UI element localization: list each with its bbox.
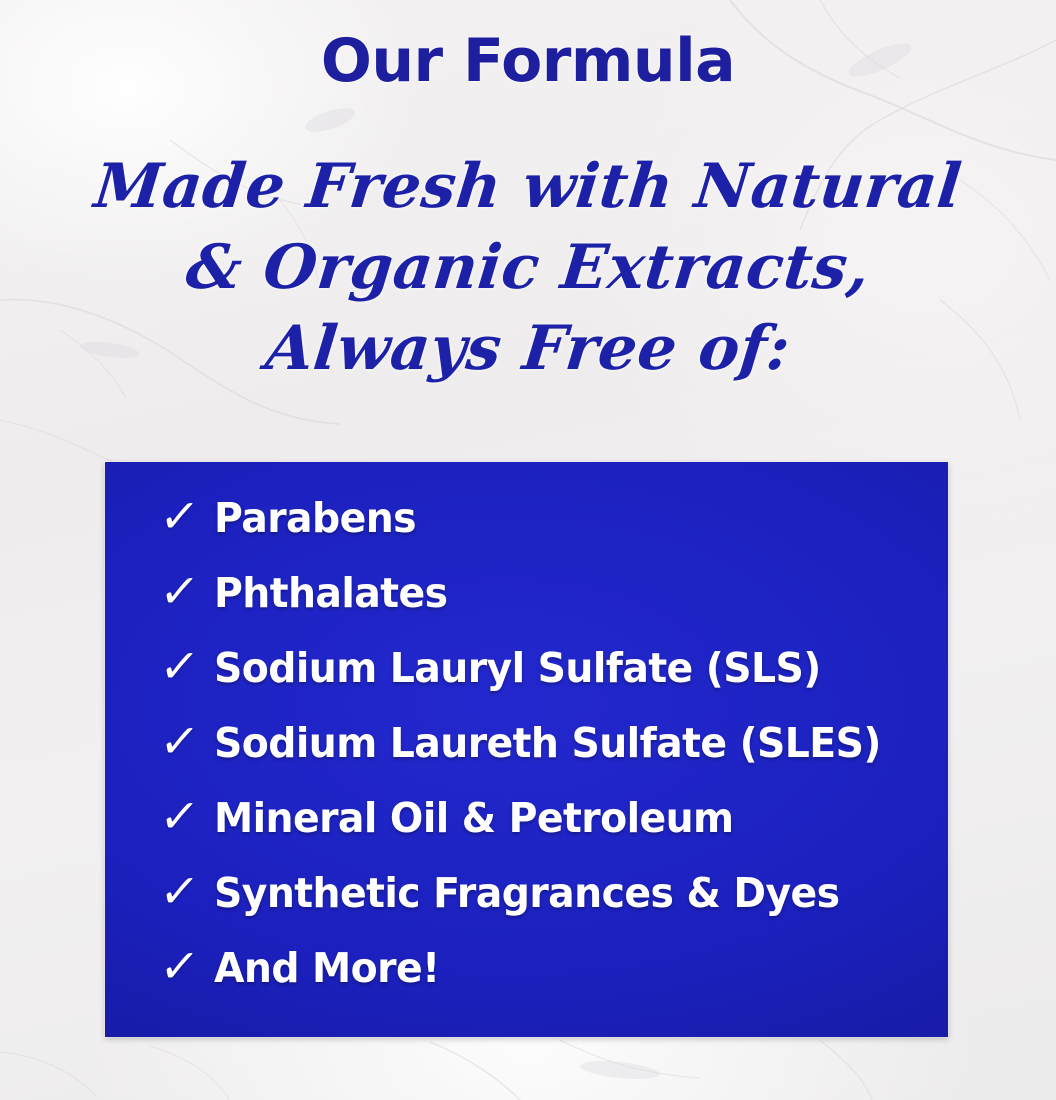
product-formula-infographic: Our Formula Made Fresh with Natural & Or… — [0, 0, 1056, 1100]
subheading-line-3: Always Free of: — [0, 308, 1056, 389]
subheading-line-2: & Organic Extracts, — [0, 227, 1056, 308]
checkmark-icon: ✓ — [157, 793, 217, 839]
list-item-label: Sodium Lauryl Sulfate (SLS) — [214, 644, 821, 692]
free-from-list: ✓ Parabens ✓ Phthalates ✓ Sodium Lauryl … — [105, 462, 948, 1037]
list-item: ✓ Parabens — [160, 490, 424, 546]
list-item: ✓ Sodium Laureth Sulfate (SLES) — [160, 715, 909, 771]
page-title: Our Formula — [0, 26, 1056, 96]
checkmark-icon: ✓ — [157, 718, 217, 764]
list-item: ✓ Sodium Lauryl Sulfate (SLS) — [160, 640, 846, 696]
subheading-line-1: Made Fresh with Natural — [0, 146, 1056, 227]
list-item-label: Phthalates — [214, 569, 448, 617]
list-item-label: And More! — [214, 944, 439, 992]
checkmark-icon: ✓ — [157, 568, 217, 614]
free-from-panel: ✓ Parabens ✓ Phthalates ✓ Sodium Lauryl … — [105, 462, 948, 1037]
list-item: ✓ Synthetic Fragrances & Dyes — [160, 865, 866, 921]
list-item-label: Parabens — [214, 494, 416, 542]
list-item-label: Sodium Laureth Sulfate (SLES) — [214, 719, 881, 767]
checkmark-icon: ✓ — [157, 643, 217, 689]
list-item-label: Mineral Oil & Petroleum — [214, 794, 734, 842]
checkmark-icon: ✓ — [157, 493, 217, 539]
list-item-label: Synthetic Fragrances & Dyes — [214, 869, 840, 917]
list-item: ✓ Mineral Oil & Petroleum — [160, 790, 755, 846]
list-item: ✓ Phthalates — [160, 565, 457, 621]
subheading-block: Made Fresh with Natural & Organic Extrac… — [0, 146, 1056, 389]
checkmark-icon: ✓ — [157, 943, 217, 989]
list-item: ✓ And More! — [160, 940, 449, 996]
checkmark-icon: ✓ — [157, 868, 217, 914]
